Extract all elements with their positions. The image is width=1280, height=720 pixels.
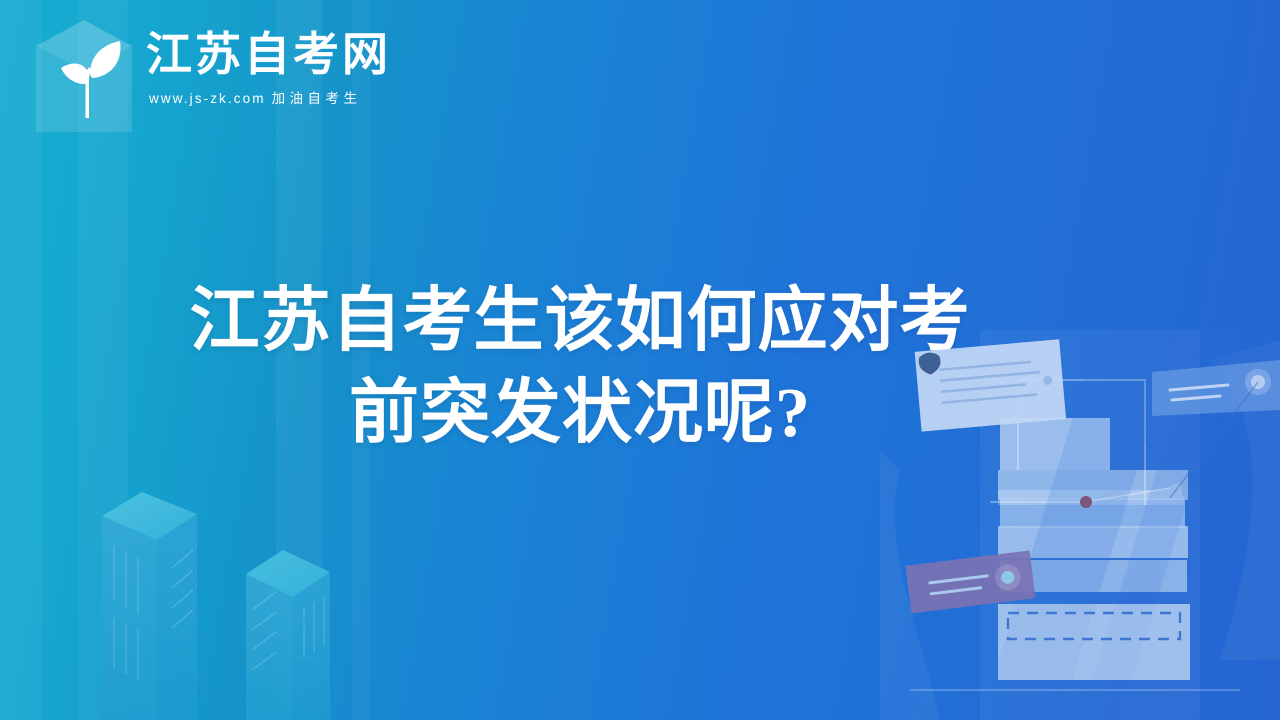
logo-tagline-slogan: 加油自考生 — [272, 91, 362, 106]
card-badge-icon — [918, 352, 942, 376]
connector-lines — [990, 380, 1170, 505]
slider-bar-with-knob — [1152, 360, 1280, 498]
logo-text-block: 江苏自考网 www.js-zk.com加油自考生 — [146, 30, 391, 107]
logo-mark — [30, 14, 140, 132]
dashed-outline-panel — [998, 604, 1190, 680]
isometric-buildings — [80, 450, 440, 720]
stacked-bars — [998, 418, 1190, 680]
logo-tagline: www.js-zk.com加油自考生 — [149, 87, 391, 107]
bg-blob-left — [880, 450, 940, 720]
page-title: 江苏自考生该如何应对考 前突发状况呢? — [0, 276, 1160, 461]
tilted-document-card — [915, 339, 1066, 431]
promo-banner: 江苏自考网 www.js-zk.com加油自考生 — [0, 0, 1280, 720]
documents-illustration — [880, 330, 1280, 720]
page-title-line-2: 前突发状况呢? — [0, 368, 1160, 460]
accent-dot — [1080, 496, 1092, 508]
page-title-line-1: 江苏自考生该如何应对考 — [0, 276, 1160, 368]
site-logo[interactable]: 江苏自考网 www.js-zk.com加油自考生 — [30, 14, 391, 132]
bar-highlight — [998, 482, 1185, 505]
building-left — [102, 492, 197, 720]
diagonal-stripes — [880, 330, 1240, 720]
logo-title: 江苏自考网 — [146, 30, 391, 80]
bg-column — [980, 330, 1200, 720]
bg-blob-right — [1210, 340, 1280, 660]
logo-tagline-url: www.js-zk.com — [149, 91, 266, 106]
building-right — [246, 550, 330, 720]
sprout-logo-icon — [44, 34, 130, 120]
purple-tag-card — [906, 551, 1036, 614]
